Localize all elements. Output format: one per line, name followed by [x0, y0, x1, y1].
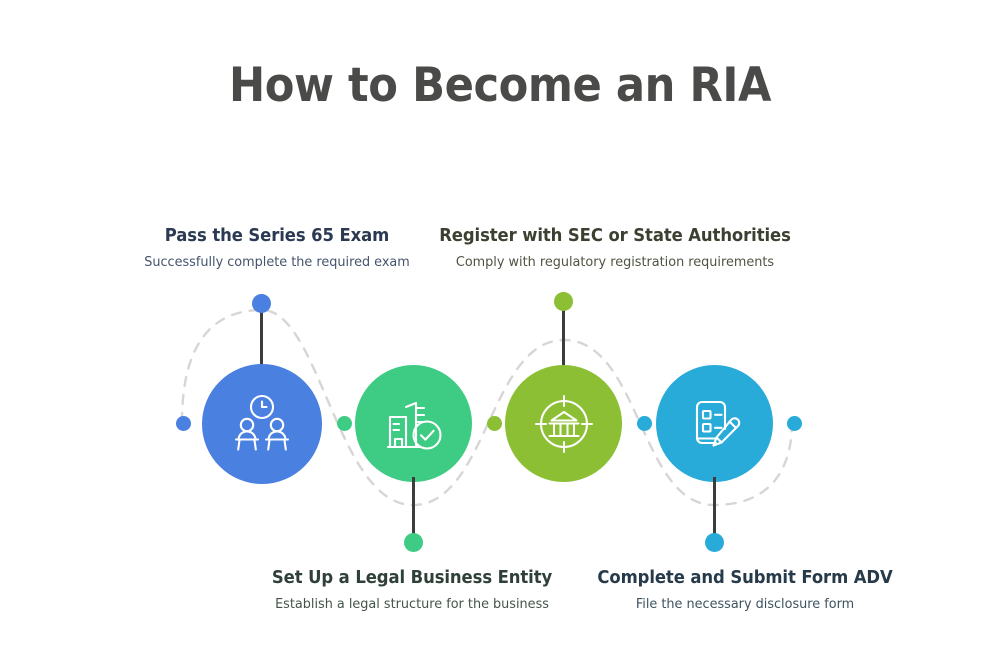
wave-start-dot	[176, 416, 191, 431]
step-subtitle-4: File the necessary disclosure form	[572, 596, 918, 612]
step-circle-1[interactable]	[202, 364, 322, 484]
buildings-check-icon	[384, 395, 444, 453]
stem-dot-step-1	[252, 294, 271, 313]
step-label-block-2: Set Up a Legal Business Entity Establish…	[230, 568, 594, 612]
stem-line-step-2	[412, 477, 415, 541]
step-title-1: Pass the Series 65 Exam	[106, 226, 448, 246]
step-subtitle-2: Establish a legal structure for the busi…	[239, 596, 585, 612]
step-label-block-4: Complete and Submit Form ADV File the ne…	[563, 568, 927, 612]
step-circle-3[interactable]	[505, 365, 622, 482]
step-title-2: Set Up a Legal Business Entity	[241, 568, 583, 588]
step-circle-4[interactable]	[656, 365, 773, 482]
infographic-canvas: How to Become an RIA Pass the Series 65 …	[0, 0, 1000, 660]
wave-junction-dot-3	[637, 416, 652, 431]
form-pencil-icon	[686, 395, 744, 453]
exam-students-clock-icon	[229, 394, 295, 454]
government-building-target-icon	[533, 393, 595, 455]
stem-dot-step-2	[404, 533, 423, 552]
step-circle-2[interactable]	[355, 365, 472, 482]
wave-junction-dot-2	[487, 416, 502, 431]
step-label-block-3: Register with SEC or State Authorities C…	[399, 226, 831, 270]
step-subtitle-3: Comply with regulatory registration requ…	[410, 254, 820, 270]
stem-dot-step-4	[705, 533, 724, 552]
wave-junction-dot-1	[337, 416, 352, 431]
step-title-4: Complete and Submit Form ADV	[574, 568, 916, 588]
step-title-3: Register with SEC or State Authorities	[412, 226, 818, 246]
stem-line-step-4	[713, 477, 716, 541]
wave-end-dot	[787, 416, 802, 431]
page-title: How to Become an RIA	[40, 58, 960, 113]
stem-line-step-3	[562, 302, 565, 374]
stem-dot-step-3	[554, 292, 573, 311]
